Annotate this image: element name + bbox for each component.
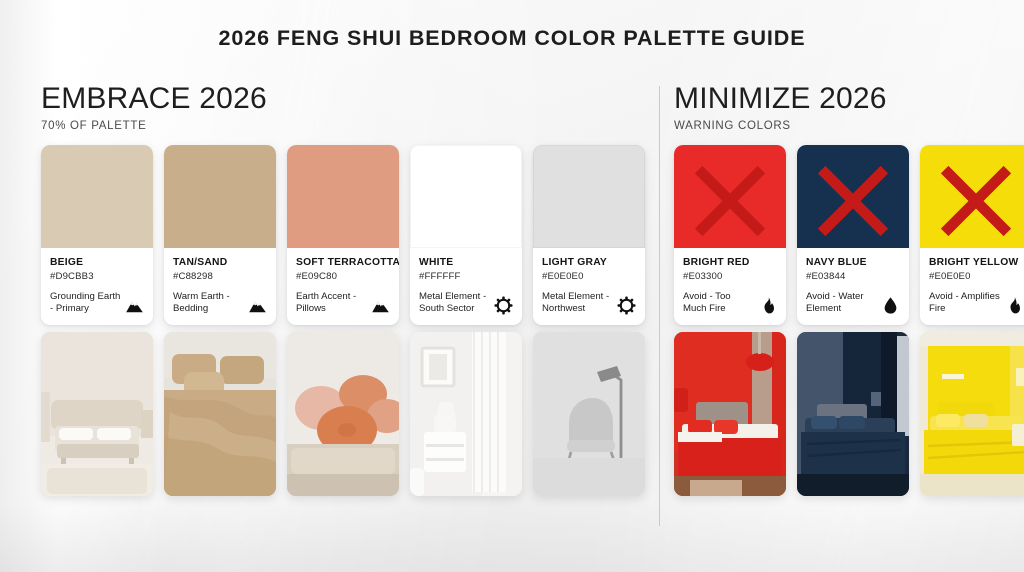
color-description: Earth Accent - Pillows [296,291,367,316]
minimize-subtitle: WARNING COLORS [674,120,887,132]
color-description: Grounding Earth - Primary [50,291,121,316]
color-hex-code: #E03844 [806,271,900,282]
mountain-icon [248,296,267,315]
embrace-photo-row [41,332,645,496]
mountain-icon [125,296,144,315]
water-drop-icon [881,296,900,315]
color-card[interactable]: BEIGE#D9CBB3Grounding Earth - Primary [41,145,153,325]
color-name: BRIGHT YELLOW [929,257,1023,269]
fire-icon [758,296,777,315]
color-description-row: Avoid - Too Much Fire [683,291,777,316]
mountain-icon [371,296,390,315]
color-hex-code: #E09C80 [296,271,390,282]
color-description-row: Earth Accent - Pillows [296,291,390,316]
color-card-info: BRIGHT YELLOW#E0E0E0Avoid - Amplifies Fi… [920,248,1024,325]
color-hex-code: #E0E0E0 [929,271,1023,282]
color-description-row: Warm Earth - Bedding [173,291,267,316]
color-description: Warm Earth - Bedding [173,291,244,316]
color-name: BRIGHT RED [683,257,777,269]
beige-bedroom-photo [41,332,153,496]
minimize-color-card-row: BRIGHT RED#E03300Avoid - Too Much FireNA… [674,145,1024,325]
color-card[interactable]: WHITE#FFFFFFMetal Element - South Sector [410,145,522,325]
color-hex-code: #D9CBB3 [50,271,144,282]
edge-shadow-bottom [0,502,1024,572]
color-hex-code: #FFFFFF [419,271,513,282]
color-description-row: Avoid - Amplifies Fire [929,291,1023,316]
color-hex-code: #C88298 [173,271,267,282]
white-bedroom-photo [410,332,522,496]
color-swatch [797,145,909,248]
gear-icon [617,296,636,315]
color-swatch [920,145,1024,248]
color-description: Avoid - Water Element [806,291,877,316]
embrace-section-header: EMBRACE 2026 70% OF PALETTE [41,84,267,132]
color-card-info: LIGHT GRAY#E0E0E0Metal Element - Northwe… [533,248,645,325]
color-description: Metal Element - South Sector [419,291,490,316]
color-description-row: Metal Element - Northwest [542,291,636,316]
color-card[interactable]: BRIGHT RED#E03300Avoid - Too Much Fire [674,145,786,325]
color-description-row: Grounding Earth - Primary [50,291,144,316]
x-mark-icon [797,145,909,248]
color-name: TAN/SAND [173,257,267,269]
embrace-subtitle: 70% OF PALETTE [41,120,267,132]
color-card-info: TAN/SAND#C88298Warm Earth - Bedding [164,248,276,325]
color-description: Metal Element - Northwest [542,291,613,316]
minimize-photo-row [674,332,1024,496]
color-card[interactable]: NAVY BLUE#E03844Avoid - Water Element [797,145,909,325]
color-swatch [164,145,276,248]
gray-chair-photo [533,332,645,496]
color-name: BEIGE [50,257,144,269]
tan-bedding-photo [164,332,276,496]
color-description-row: Avoid - Water Element [806,291,900,316]
color-swatch [287,145,399,248]
color-card-info: BEIGE#D9CBB3Grounding Earth - Primary [41,248,153,325]
color-name: LIGHT GRAY [542,257,636,269]
color-hex-code: #E0E0E0 [542,271,636,282]
color-card[interactable]: SOFT TERRACOTTA#E09C80Earth Accent - Pil… [287,145,399,325]
color-swatch [410,145,522,248]
yellow-bedroom-photo [920,332,1024,496]
color-card[interactable]: BRIGHT YELLOW#E0E0E0Avoid - Amplifies Fi… [920,145,1024,325]
color-swatch [674,145,786,248]
color-card-info: WHITE#FFFFFFMetal Element - South Sector [410,248,522,325]
embrace-color-card-row: BEIGE#D9CBB3Grounding Earth - PrimaryTAN… [41,145,645,325]
palette-guide-canvas: 2026 FENG SHUI BEDROOM COLOR PALETTE GUI… [0,0,1024,572]
page-title: 2026 FENG SHUI BEDROOM COLOR PALETTE GUI… [0,26,1024,51]
terracotta-pillows-photo [287,332,399,496]
color-description: Avoid - Too Much Fire [683,291,754,316]
color-card[interactable]: TAN/SAND#C88298Warm Earth - Bedding [164,145,276,325]
x-mark-icon [920,145,1024,248]
color-card-info: BRIGHT RED#E03300Avoid - Too Much Fire [674,248,786,325]
red-bedroom-photo [674,332,786,496]
section-divider [659,86,660,526]
color-description-row: Metal Element - South Sector [419,291,513,316]
color-name: SOFT TERRACOTTA [296,257,390,269]
color-hex-code: #E03300 [683,271,777,282]
x-mark-icon [674,145,786,248]
minimize-title: MINIMIZE 2026 [674,84,887,115]
color-name: NAVY BLUE [806,257,900,269]
minimize-section-header: MINIMIZE 2026 WARNING COLORS [674,84,887,132]
color-description: Avoid - Amplifies Fire [929,291,1000,316]
color-card[interactable]: LIGHT GRAY#E0E0E0Metal Element - Northwe… [533,145,645,325]
color-swatch [41,145,153,248]
color-swatch [533,145,645,248]
embrace-title: EMBRACE 2026 [41,84,267,115]
gear-icon [494,296,513,315]
color-card-info: NAVY BLUE#E03844Avoid - Water Element [797,248,909,325]
navy-bedroom-photo [797,332,909,496]
color-name: WHITE [419,257,513,269]
fire-icon [1004,296,1023,315]
color-card-info: SOFT TERRACOTTA#E09C80Earth Accent - Pil… [287,248,399,325]
